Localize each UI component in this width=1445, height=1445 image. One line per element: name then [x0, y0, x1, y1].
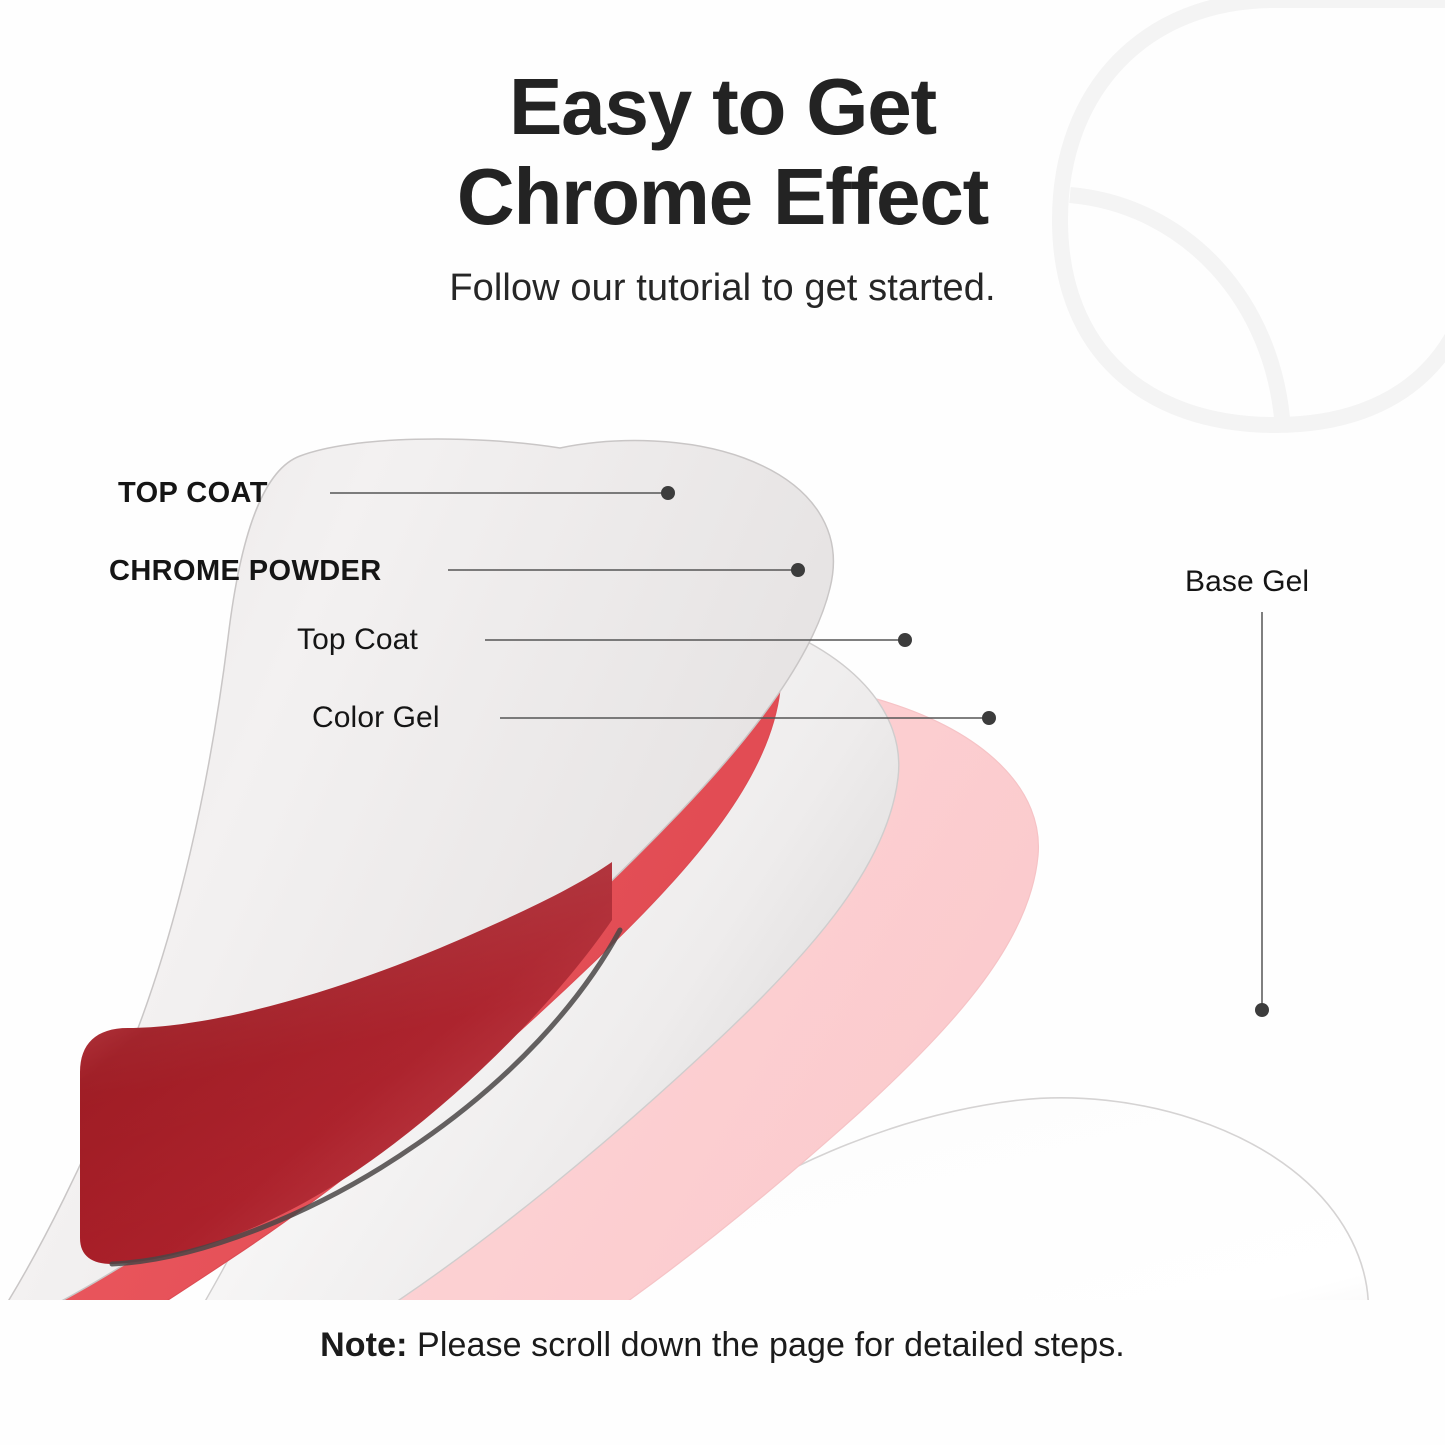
leader-dot-color-gel [982, 711, 996, 725]
diagram-label-top-coat-upper: TOP COAT [118, 477, 268, 510]
diagram-label-top-coat-lower: Top Coat [297, 623, 418, 657]
diagram-label-chrome-powder: CHROME POWDER [109, 555, 382, 588]
diagram-label-base-gel: Base Gel [1185, 565, 1309, 599]
leader-dot-chrome-powder [791, 563, 805, 577]
footer-note-prefix: Note: [320, 1326, 407, 1364]
page-subtitle: Follow our tutorial to get started. [0, 267, 1445, 310]
footer-note-text: Please scroll down the page for detailed… [408, 1326, 1125, 1364]
footer-note: Note: Please scroll down the page for de… [0, 1326, 1445, 1365]
leader-dot-top-coat-upper [661, 486, 675, 500]
header: Easy to Get Chrome Effect Follow our tut… [0, 62, 1445, 310]
nail-layer-diagram [0, 400, 1445, 1300]
diagram-label-color-gel: Color Gel [312, 701, 440, 735]
leader-dot-base-gel [1255, 1003, 1269, 1017]
leader-dot-top-coat-lower [898, 633, 912, 647]
promo-page: Easy to Get Chrome Effect Follow our tut… [0, 0, 1445, 1445]
page-title: Easy to Get Chrome Effect [0, 62, 1445, 241]
